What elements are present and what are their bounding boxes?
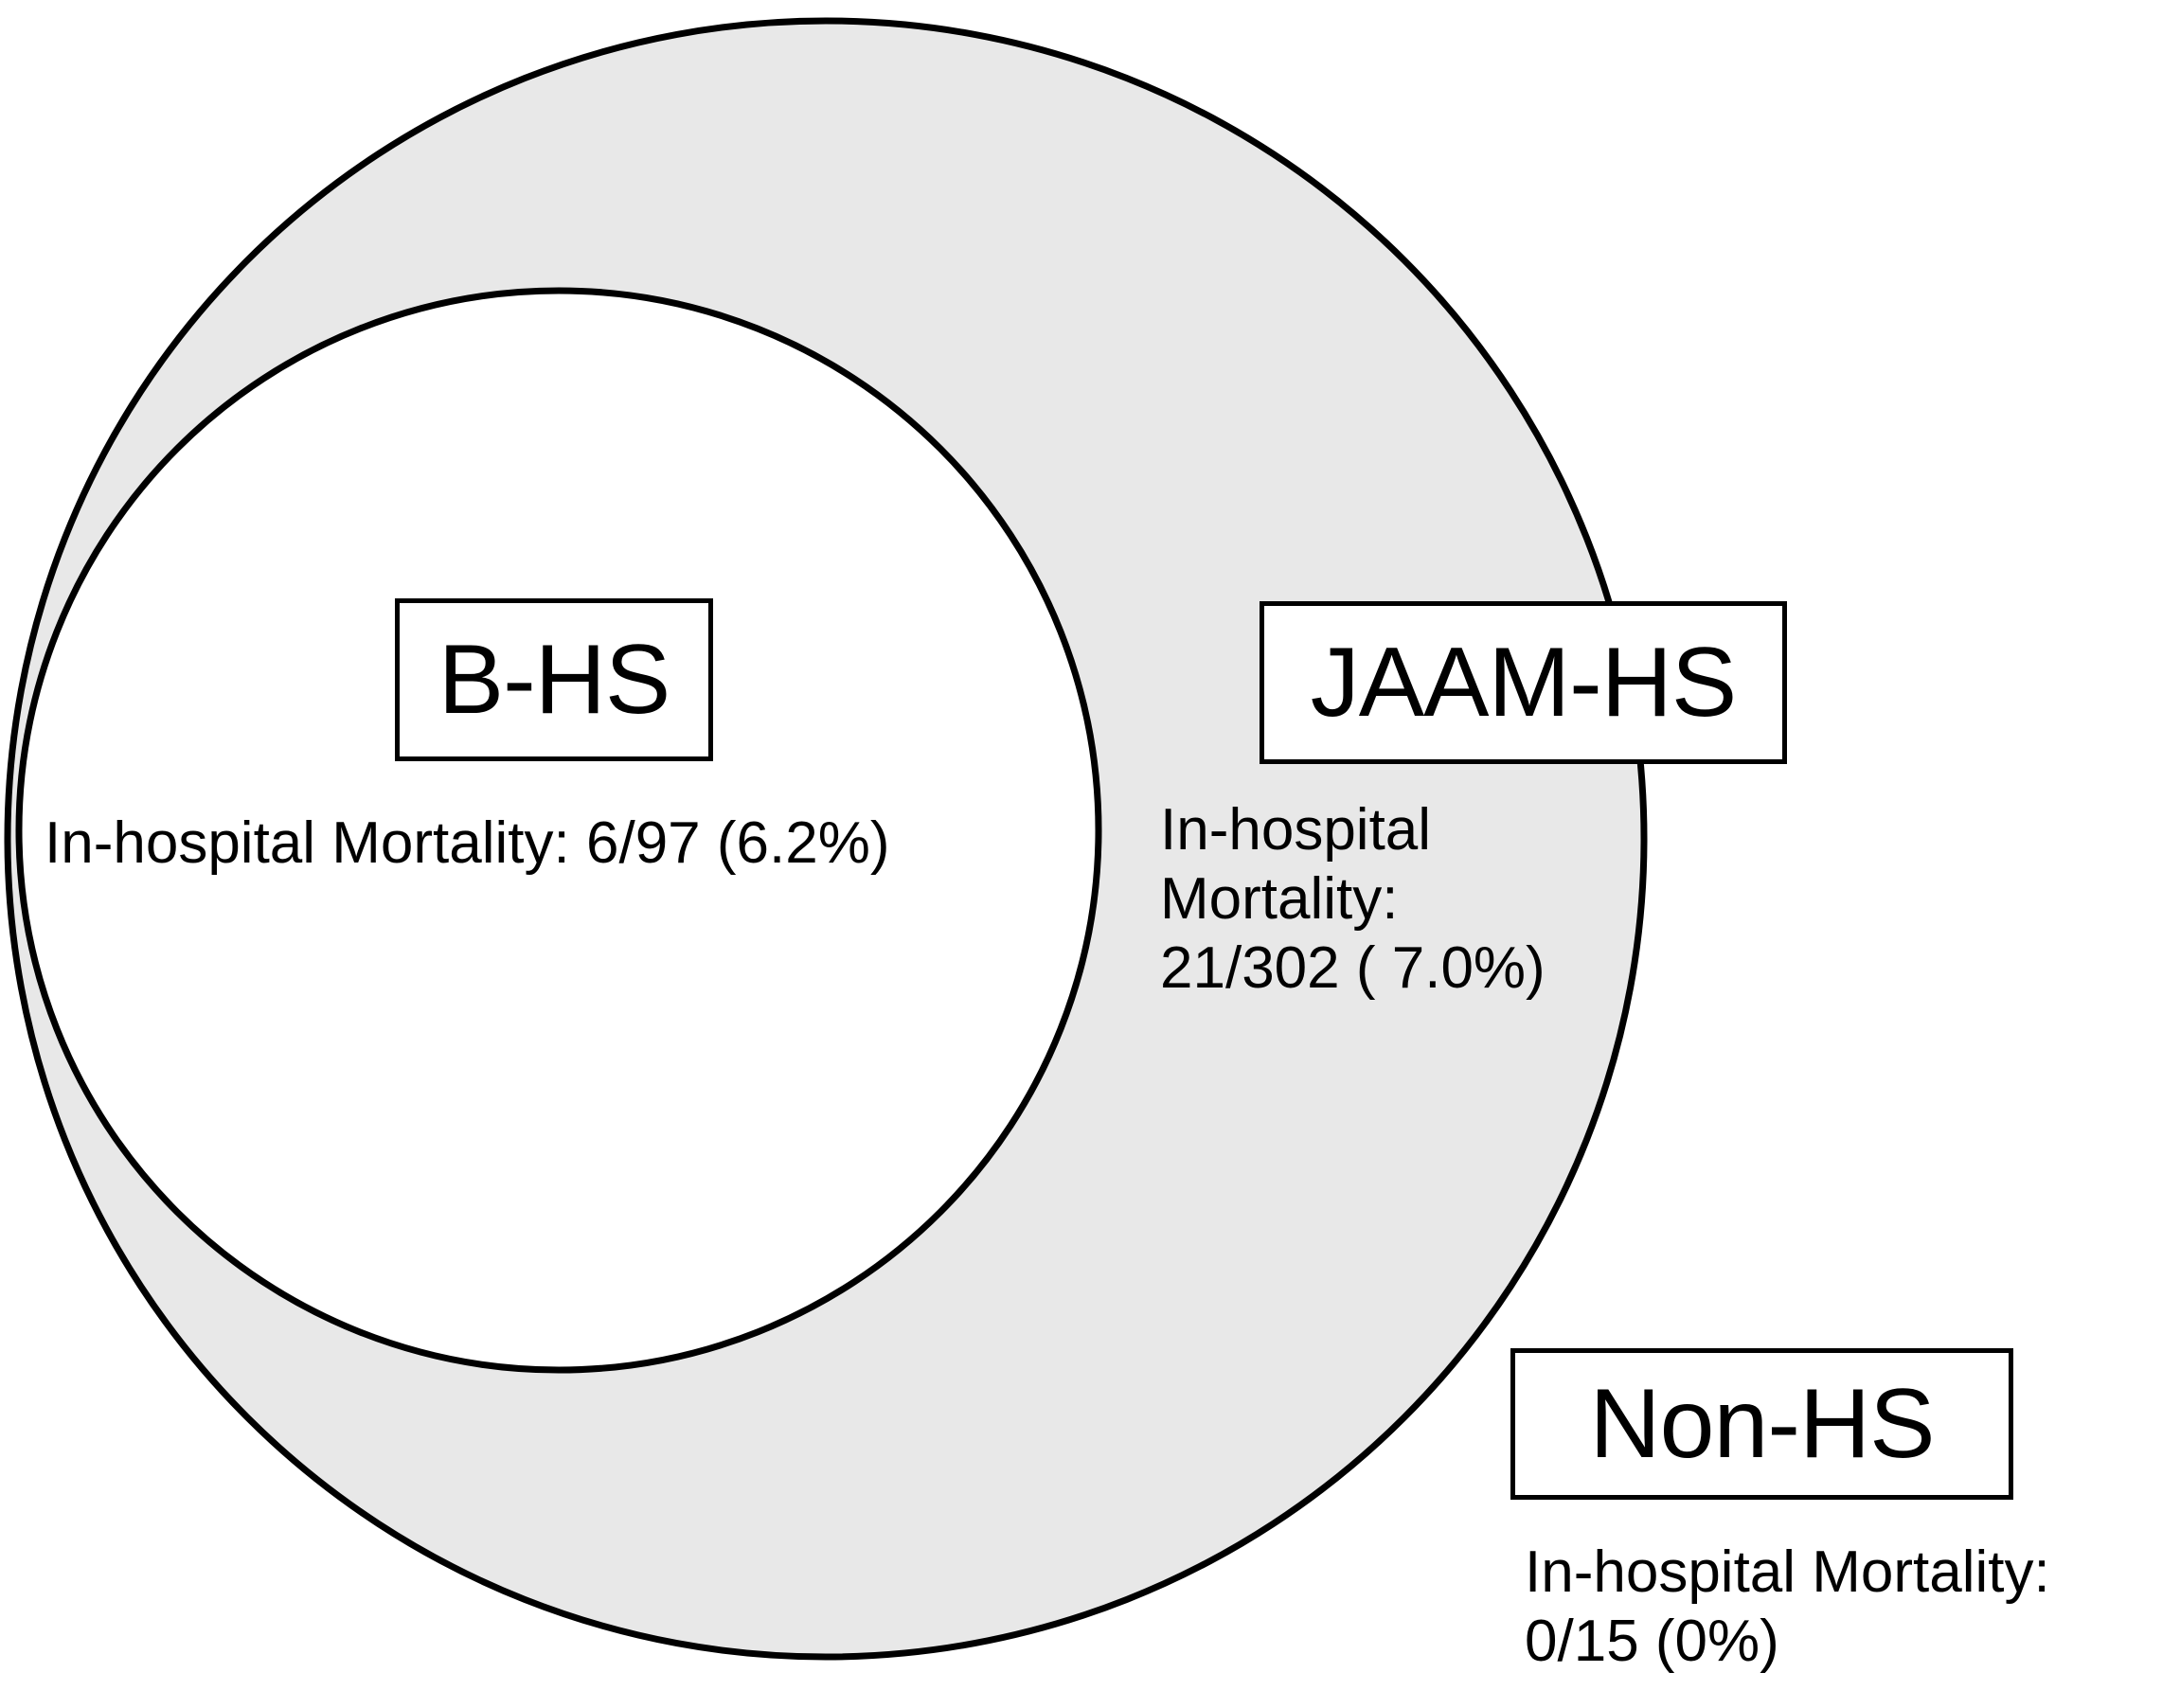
label-jaam-hs: JAAM-HS — [1311, 633, 1736, 732]
mortality-text-non-hs: In-hospital Mortality: 0/15 (0%) — [1525, 1538, 2131, 1676]
mortality-text-jaam-hs: In-hospital Mortality: 21/302 ( 7.0%) — [1160, 795, 1653, 1003]
venn-figure: B-HS In-hospital Mortality: 6/97 (6.2%) … — [0, 0, 2180, 1708]
label-box-b-hs: B-HS — [395, 598, 713, 761]
mortality-text-b-hs: In-hospital Mortality: 6/97 (6.2%) — [45, 809, 890, 878]
label-box-non-hs: Non-HS — [1510, 1348, 2013, 1500]
label-box-jaam-hs: JAAM-HS — [1260, 601, 1787, 764]
label-b-hs: B-HS — [438, 631, 670, 729]
label-non-hs: Non-HS — [1590, 1375, 1935, 1473]
